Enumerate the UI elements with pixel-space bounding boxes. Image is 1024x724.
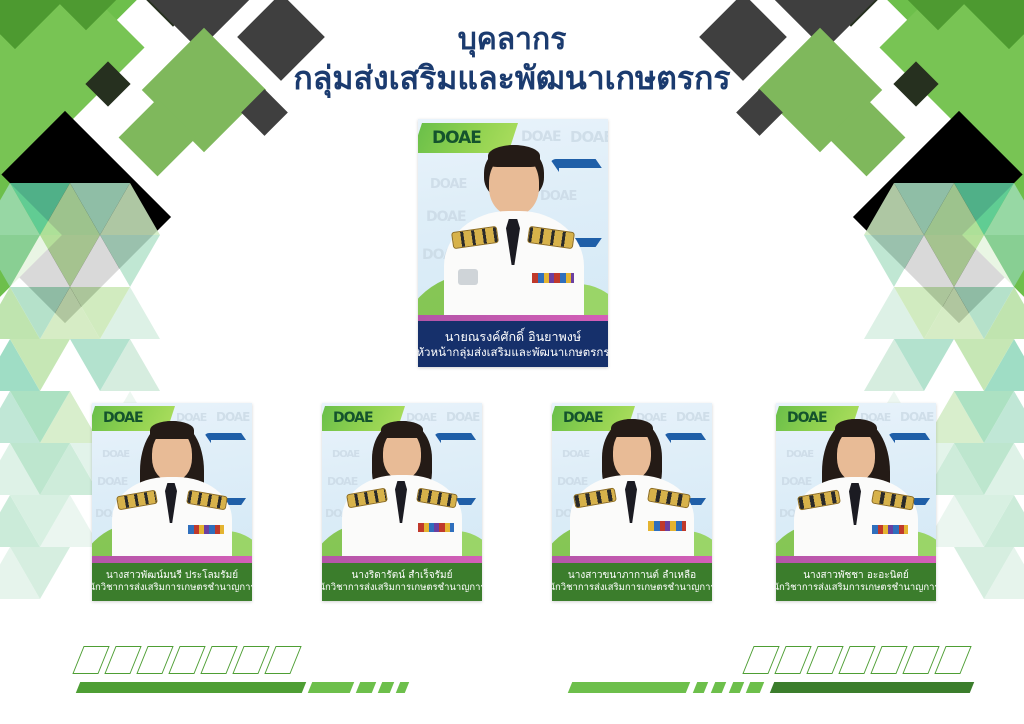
portrait-insignia — [458, 269, 478, 285]
staff-portrait-3 — [552, 403, 712, 563]
deco-bar-dash-br-3 — [693, 682, 708, 693]
staff-accent-bar-4 — [776, 556, 936, 563]
portrait-hair-top — [611, 419, 653, 437]
staff-portrait-1 — [92, 403, 252, 563]
deco-bar-outline-bl-1 — [72, 646, 109, 674]
staff-card-4[interactable]: DOAE DOAE DOAE DOAE DOAE DOAE นางสา — [776, 403, 936, 601]
staff-accent-bar-1 — [92, 556, 252, 563]
leader-photo: DOAE DOAE DOAE DOAE DOAE DOAE DOAE — [418, 119, 608, 324]
deco-bar-outline-br-5 — [806, 646, 843, 674]
portrait-hair-top — [150, 421, 194, 439]
deco-bar-solid-br-dark — [770, 682, 974, 693]
page-title-line2: กลุ่มส่งเสริมและพัฒนาเกษตรกร — [0, 59, 1024, 98]
portrait-hair-top — [835, 419, 877, 437]
deco-bar-dash-br-1 — [729, 682, 744, 693]
staff-card-3[interactable]: DOAE DOAE DOAE DOAE DOAE DOAE นางสา — [552, 403, 712, 601]
deco-bar-outline-br-6 — [774, 646, 811, 674]
deco-bar-outline-bl-7 — [264, 646, 301, 674]
deco-bar-solid-br-mid — [746, 682, 764, 693]
staff-role-2: นักวิชาการส่งเสริมการเกษตรชำนาญการ — [322, 582, 482, 594]
deco-ribbon-bottom-left — [60, 646, 480, 706]
staff-namebox-2: นางริดารัตน์ สำเร็จรัมย์ นักวิชาการส่งเส… — [322, 563, 482, 601]
deco-diamond-tl-green-lower — [0, 143, 62, 327]
personnel-poster: บุคลากร กลุ่มส่งเสริมและพัฒนาเกษตรกร DOA… — [0, 0, 1024, 724]
deco-bar-solid-br-long — [568, 682, 690, 693]
deco-bar-outline-br-1 — [934, 646, 971, 674]
staff-name-3: นางสาวขนาภากานต์ ลำเหลือ — [568, 570, 696, 583]
deco-bar-outline-bl-2 — [104, 646, 141, 674]
staff-photo-4: DOAE DOAE DOAE DOAE DOAE DOAE — [776, 403, 936, 563]
deco-bar-outline-br-7 — [742, 646, 779, 674]
leader-role: หัวหน้ากลุ่มส่งเสริมและพัฒนาเกษตรกร — [418, 345, 608, 360]
portrait-hair-top — [381, 421, 423, 438]
deco-bar-dash-bl-3 — [396, 682, 409, 693]
staff-role-4: นักวิชาการส่งเสริมการเกษตรชำนาญการ — [776, 582, 936, 594]
deco-bar-outline-bl-4 — [168, 646, 205, 674]
staff-photo-1: DOAE DOAE DOAE DOAE DOAE DOAE — [92, 403, 252, 563]
deco-diamond-tr-black — [853, 111, 1024, 323]
deco-bar-outline-bl-3 — [136, 646, 173, 674]
leader-name: นายณรงค์ศักดิ์ อินยาพงษ์ — [445, 329, 581, 345]
deco-bar-solid-bl-dark — [76, 682, 306, 693]
leader-card[interactable]: DOAE DOAE DOAE DOAE DOAE DOAE DOAE — [418, 119, 608, 367]
deco-diamond-tl-green-float2 — [119, 99, 197, 177]
deco-diamond-tl-black — [0, 111, 171, 323]
staff-accent-bar-2 — [322, 556, 482, 563]
staff-photo-3: DOAE DOAE DOAE DOAE DOAE DOAE — [552, 403, 712, 563]
leader-portrait — [418, 119, 608, 324]
staff-namebox-3: นางสาวขนาภากานต์ ลำเหลือ นักวิชาการส่งเส… — [552, 563, 712, 601]
staff-namebox-4: นางสาวพัชชา อะอะนิตย์ นักวิชาการส่งเสริม… — [776, 563, 936, 601]
staff-portrait-2 — [322, 403, 482, 563]
staff-name-1: นางสาวพัฒน์มนรี ประโลมรัมย์ — [106, 570, 238, 583]
portrait-ribbon-bar — [648, 521, 686, 531]
deco-ribbon-bottom-right — [554, 646, 984, 706]
deco-bar-solid-bl-mid — [308, 682, 354, 693]
deco-bar-outline-br-2 — [902, 646, 939, 674]
staff-role-1: นักวิชาการส่งเสริมการเกษตรชำนาญการ — [92, 582, 252, 594]
deco-bar-outline-bl-6 — [232, 646, 269, 674]
deco-bar-dash-bl-2 — [378, 682, 394, 693]
staff-name-2: นางริดารัตน์ สำเร็จรัมย์ — [352, 570, 453, 583]
leader-namebox: นายณรงค์ศักดิ์ อินยาพงษ์ หัวหน้ากลุ่มส่ง… — [418, 321, 608, 367]
staff-accent-bar-3 — [552, 556, 712, 563]
deco-bar-dash-br-2 — [711, 682, 726, 693]
staff-portrait-4 — [776, 403, 936, 563]
portrait-ribbon-bar — [418, 523, 454, 532]
portrait-ribbon-bar — [532, 273, 574, 283]
deco-bar-dash-bl-1 — [356, 682, 376, 693]
deco-diamond-tr-green-float2 — [828, 99, 906, 177]
page-title: บุคลากร กลุ่มส่งเสริมและพัฒนาเกษตรกร — [0, 22, 1024, 98]
page-title-line1: บุคลากร — [0, 22, 1024, 59]
staff-photo-2: DOAE DOAE DOAE DOAE DOAE DOAE — [322, 403, 482, 563]
staff-name-4: นางสาวพัชชา อะอะนิตย์ — [803, 570, 909, 583]
portrait-hair-top — [488, 145, 540, 167]
staff-card-1[interactable]: DOAE DOAE DOAE DOAE DOAE DOAE นางสา — [92, 403, 252, 601]
staff-namebox-1: นางสาวพัฒน์มนรี ประโลมรัมย์ นักวิชาการส่… — [92, 563, 252, 601]
portrait-ribbon-bar — [872, 525, 908, 534]
deco-bar-outline-br-3 — [870, 646, 907, 674]
deco-bar-outline-bl-5 — [200, 646, 237, 674]
staff-card-2[interactable]: DOAE DOAE DOAE DOAE DOAE DOAE นางริ — [322, 403, 482, 601]
deco-diamond-tr-green-lower — [962, 143, 1024, 327]
portrait-ribbon-bar — [188, 525, 224, 534]
deco-bar-outline-br-4 — [838, 646, 875, 674]
staff-role-3: นักวิชาการส่งเสริมการเกษตรชำนาญการ — [552, 582, 712, 594]
